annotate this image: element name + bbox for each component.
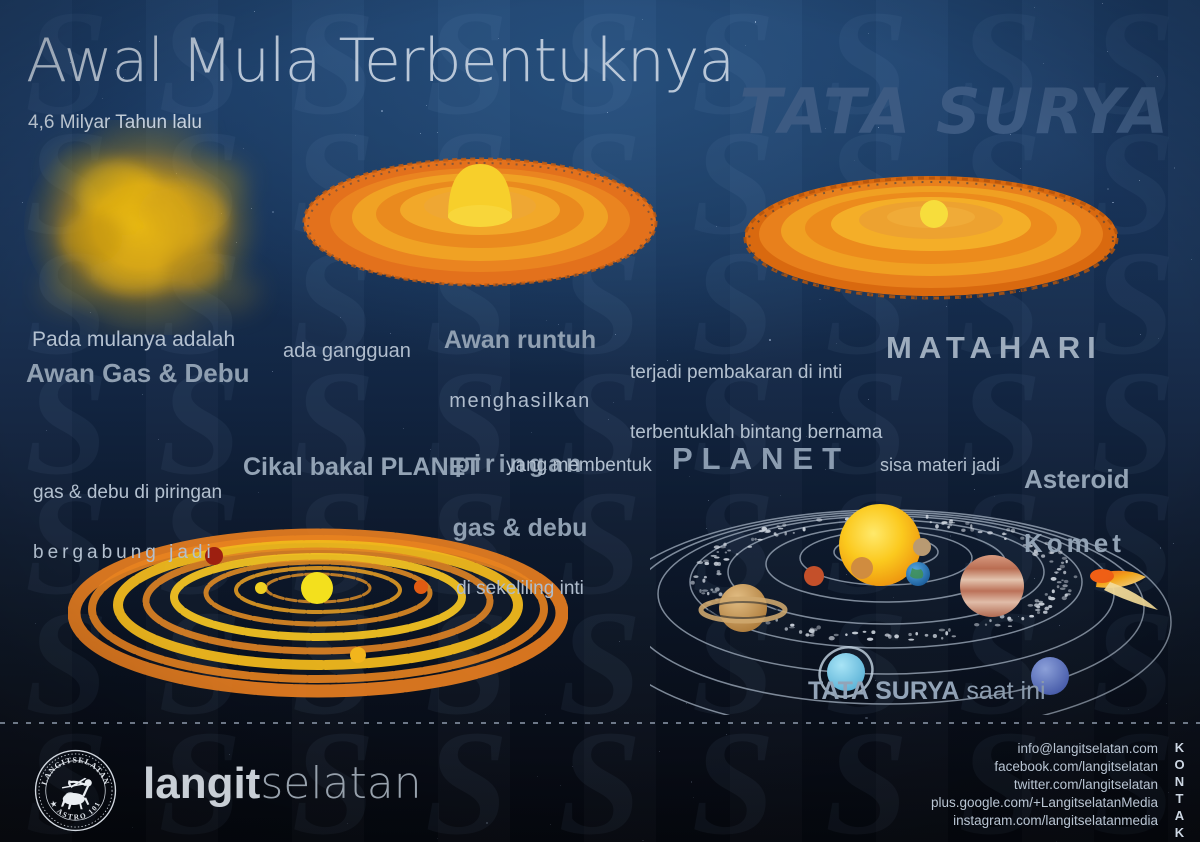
star-dot: [994, 496, 995, 497]
page-title-accent: TATA SURYA: [739, 75, 1170, 148]
brand-light: selatan: [260, 758, 421, 809]
asteroid-speck: [845, 633, 848, 636]
asteroid-speck: [1038, 602, 1044, 605]
nebula-cloud-icon: [22, 120, 280, 335]
collapse-line2: menghasilkan: [430, 390, 610, 413]
star-dot: [1191, 259, 1192, 260]
asteroid-speck: [699, 589, 701, 593]
star-dot: [437, 132, 438, 133]
star-dot: [1174, 167, 1176, 169]
solar-system-today-label: TATA SURYA saat ini: [808, 677, 1046, 706]
asteroid-speck: [790, 624, 794, 627]
star-dot: [229, 754, 230, 755]
contact-line[interactable]: info@langitselatan.com: [931, 740, 1158, 758]
asteroid-speck: [894, 634, 899, 638]
asteroid-speck: [945, 631, 948, 635]
asteroid-speck: [871, 630, 875, 634]
matahari-label: MATAHARI: [886, 330, 1103, 366]
star-dot: [619, 641, 620, 642]
asteroid-speck: [1008, 619, 1013, 622]
asteroid-speck: [1035, 599, 1039, 602]
planets-caption: yang membentuk: [506, 455, 652, 477]
accretion-line1: gas & debu di piringan: [33, 482, 222, 504]
protostar: [301, 572, 333, 604]
asteroid-speck: [704, 576, 707, 579]
star-dot: [1139, 180, 1140, 181]
asteroid-speck: [714, 545, 720, 549]
asteroid-speck: [754, 538, 757, 541]
jupiter: [960, 555, 1024, 617]
asteroid-speck: [961, 529, 965, 532]
asteroid-speck: [803, 527, 806, 531]
asteroid-speck: [926, 515, 929, 519]
asteroid-speck: [1004, 538, 1007, 540]
star-dot: [1158, 338, 1159, 339]
star-dot: [258, 492, 259, 493]
asteroid-speck: [1006, 528, 1010, 531]
star-dot: [572, 766, 573, 767]
asteroid-speck: [935, 524, 939, 529]
star-dot: [426, 105, 427, 106]
centaur-figure-icon: [61, 778, 92, 809]
asteroid-speck: [816, 518, 822, 522]
star-dot: [974, 489, 975, 490]
star-dot: [1056, 841, 1057, 842]
page-title: Awal Mula Terbentuknya: [26, 26, 734, 96]
asteroid-speck: [985, 624, 987, 626]
star-dot: [780, 495, 781, 496]
asteroid-speck: [751, 538, 754, 541]
asteroid-speck: [764, 531, 769, 534]
asteroid-speck: [978, 531, 983, 533]
asteroid-speck: [863, 631, 867, 633]
asteroid-komet-label-block: Asteroid Komet: [1024, 428, 1129, 595]
asteroid-speck: [714, 562, 719, 566]
asteroid-speck: [1035, 609, 1041, 611]
star-dot: [545, 714, 546, 715]
asteroid-speck: [789, 626, 795, 628]
star-dot: [381, 110, 383, 112]
star-dot: [403, 428, 404, 429]
leftovers-caption: sisa materi jadi: [880, 455, 1000, 476]
mars: [804, 566, 824, 586]
asteroid-speck: [1044, 607, 1049, 611]
star-dot: [390, 333, 391, 334]
star-birth-line1: terjadi pembakaran di inti: [630, 361, 882, 385]
watermark-s-glyph: S: [533, 720, 666, 840]
brand-wordmark[interactable]: langitselatan: [143, 762, 422, 806]
asteroid-speck: [702, 579, 705, 583]
collapse-line4: gas & debu: [430, 514, 610, 543]
collapse-line1: Awan runtuh: [430, 326, 610, 355]
asteroid-speck: [941, 521, 947, 524]
star-dot: [486, 822, 488, 824]
asteroid-speck: [697, 561, 703, 564]
asteroid-speck: [693, 575, 698, 578]
asteroid-speck: [915, 632, 918, 635]
asteroid-speck: [925, 634, 929, 637]
planet-label: PLANET: [672, 441, 850, 477]
asteroid-speck: [816, 625, 821, 629]
asteroid-speck: [965, 522, 969, 525]
disturbance-caption: ada gangguan: [283, 340, 411, 363]
asteroid-speck: [885, 633, 890, 636]
asteroid-speck: [1048, 596, 1051, 600]
infographic-poster: SSSSSSSSSSSSSSSSSSSSSSSSSSSSSSSSSSSSSSSS…: [0, 0, 1200, 842]
asteroid-speck: [710, 589, 713, 591]
star-dot: [607, 112, 608, 113]
star-dot: [437, 838, 438, 839]
star-dot: [613, 402, 614, 403]
asteroid-speck: [748, 546, 753, 548]
cloud-caption-line1: Pada mulanya adalah: [32, 328, 235, 352]
asteroid-speck: [995, 624, 1001, 627]
asteroid-speck: [948, 628, 951, 632]
asteroid-speck: [704, 562, 709, 565]
asteroid-speck: [933, 634, 937, 638]
asteroid-speck: [829, 636, 835, 640]
star-dot: [693, 797, 694, 798]
asteroid-speck: [1029, 615, 1034, 618]
asteroid-speck: [761, 527, 767, 531]
asteroid-speck: [939, 629, 945, 632]
asteroid-speck: [970, 528, 974, 532]
star-dot: [1043, 63, 1044, 64]
star-dot: [347, 823, 348, 824]
kontak-vertical-label: KONTAK: [1172, 740, 1186, 842]
asteroid-speck: [809, 634, 814, 637]
star-dot: [1168, 792, 1169, 793]
protoplanetary-disk-with-star-icon: [742, 168, 1120, 300]
asteroid-speck: [1028, 604, 1034, 607]
asteroid-speck: [714, 557, 720, 559]
star-dot: [1034, 7, 1035, 8]
contact-line[interactable]: plus.google.com/+LangitselatanMedia: [931, 794, 1158, 812]
asteroid-speck: [834, 634, 839, 636]
star-dot: [1107, 51, 1108, 52]
star-dot: [550, 824, 551, 825]
star-dot: [102, 98, 103, 99]
page-subtitle: 4,6 Milyar Tahun lalu: [28, 112, 202, 134]
mercury: [913, 538, 931, 556]
star-dot: [272, 371, 273, 372]
langitselatan-seal-logo[interactable]: LANGITSELATAN ★ ASTRO 101: [33, 748, 118, 833]
asteroid-speck: [702, 589, 708, 591]
star-dot: [726, 734, 727, 735]
star-dot: [355, 135, 356, 136]
asteroid-speck: [952, 635, 956, 637]
asteroid-speck: [1021, 617, 1024, 621]
asteroid-speck: [793, 532, 795, 534]
asteroid-speck: [691, 581, 695, 585]
asteroid-speck: [775, 534, 778, 537]
star-dot: [642, 840, 644, 842]
asteroid-speck: [949, 524, 952, 526]
asteroid-speck: [941, 637, 943, 640]
brand-bold: langit: [143, 759, 260, 808]
asteroid-speck: [782, 523, 786, 526]
contact-line[interactable]: facebook.com/langitselatan: [931, 758, 1158, 776]
asteroid-speck: [987, 531, 993, 534]
star-dot: [142, 394, 143, 395]
star-dot: [716, 226, 717, 227]
star-dot: [1102, 3, 1103, 4]
star-dot: [659, 751, 660, 752]
asteroid-speck: [908, 633, 912, 636]
asteroid-speck: [1011, 528, 1015, 532]
asteroid-speck: [716, 573, 721, 576]
asteroid-speck: [736, 553, 739, 555]
today-label-light: saat ini: [959, 677, 1045, 705]
asteroid-speck: [725, 551, 727, 553]
star-dot: [946, 306, 947, 307]
asteroid-speck: [785, 627, 788, 630]
collapse-line5: di sekeliling inti: [430, 578, 610, 600]
contact-line[interactable]: instagram.com/langitselatanmedia: [931, 812, 1158, 830]
protoplanetary-disk-icon: [300, 140, 660, 295]
asteroid-speck: [719, 593, 723, 597]
star-dot: [868, 33, 869, 34]
star-dot: [46, 430, 47, 431]
star-dot: [615, 334, 616, 335]
asteroid-speck: [930, 521, 932, 523]
star-dot: [420, 133, 421, 134]
star-dot: [132, 827, 133, 828]
asteroid-speck: [799, 630, 802, 634]
asteroid-speck: [777, 525, 780, 527]
asteroid-speck: [716, 551, 719, 553]
watermark-s-glyph: S: [667, 720, 800, 840]
asteroid-speck: [707, 592, 710, 595]
star-dot: [560, 785, 561, 786]
asteroid-speck: [813, 628, 817, 631]
asteroid-speck: [908, 639, 914, 641]
contact-list: info@langitselatan.comfacebook.com/langi…: [931, 740, 1158, 830]
venus: [851, 557, 873, 579]
star-dot: [340, 317, 341, 318]
star-dot: [642, 19, 643, 20]
asteroid-speck: [723, 543, 726, 547]
asteroid-label: Asteroid: [1024, 464, 1129, 495]
asteroid-speck: [1008, 625, 1012, 627]
cikal-bakal-planet-label: Cikal bakal PLANET: [243, 453, 481, 482]
asteroid-speck: [852, 632, 858, 635]
star-dot: [854, 160, 855, 161]
star-dot: [1140, 334, 1141, 335]
watermark-s-glyph: S: [800, 720, 933, 840]
star-dot: [35, 623, 36, 624]
asteroid-speck: [723, 558, 729, 561]
asteroid-speck: [727, 550, 731, 552]
star-dot: [158, 439, 159, 440]
asteroid-speck: [784, 532, 787, 536]
accretion-line2: bergabung jadi: [33, 542, 222, 564]
asteroid-speck: [757, 539, 763, 541]
asteroid-speck: [974, 623, 979, 626]
asteroid-speck: [701, 592, 705, 594]
star-dot: [745, 45, 746, 46]
asteroid-speck: [1002, 533, 1007, 535]
star-dot: [691, 781, 693, 783]
footer-divider: [0, 722, 1200, 724]
asteroid-speck: [1062, 596, 1067, 600]
star-dot: [865, 717, 867, 719]
asteroid-speck: [867, 638, 873, 641]
asteroid-speck: [715, 587, 720, 591]
asteroid-speck: [1037, 605, 1041, 608]
today-label-bold: TATA SURYA: [808, 677, 959, 705]
komet-label: Komet: [1024, 528, 1129, 559]
star-dot: [755, 21, 757, 23]
asteroid-speck: [989, 619, 991, 622]
asteroid-speck: [949, 520, 953, 523]
cloud-caption-line2: Awan Gas & Debu: [26, 358, 249, 389]
accretion-caption-block: gas & debu di piringan bergabung jadi: [33, 446, 222, 600]
star-dot: [537, 776, 538, 777]
star-dot: [254, 11, 255, 12]
asteroid-speck: [1043, 611, 1048, 614]
asteroid-speck: [1037, 611, 1040, 614]
asteroid-speck: [805, 633, 809, 636]
asteroid-speck: [778, 528, 783, 530]
contact-line[interactable]: twitter.com/langitselatan: [931, 776, 1158, 794]
